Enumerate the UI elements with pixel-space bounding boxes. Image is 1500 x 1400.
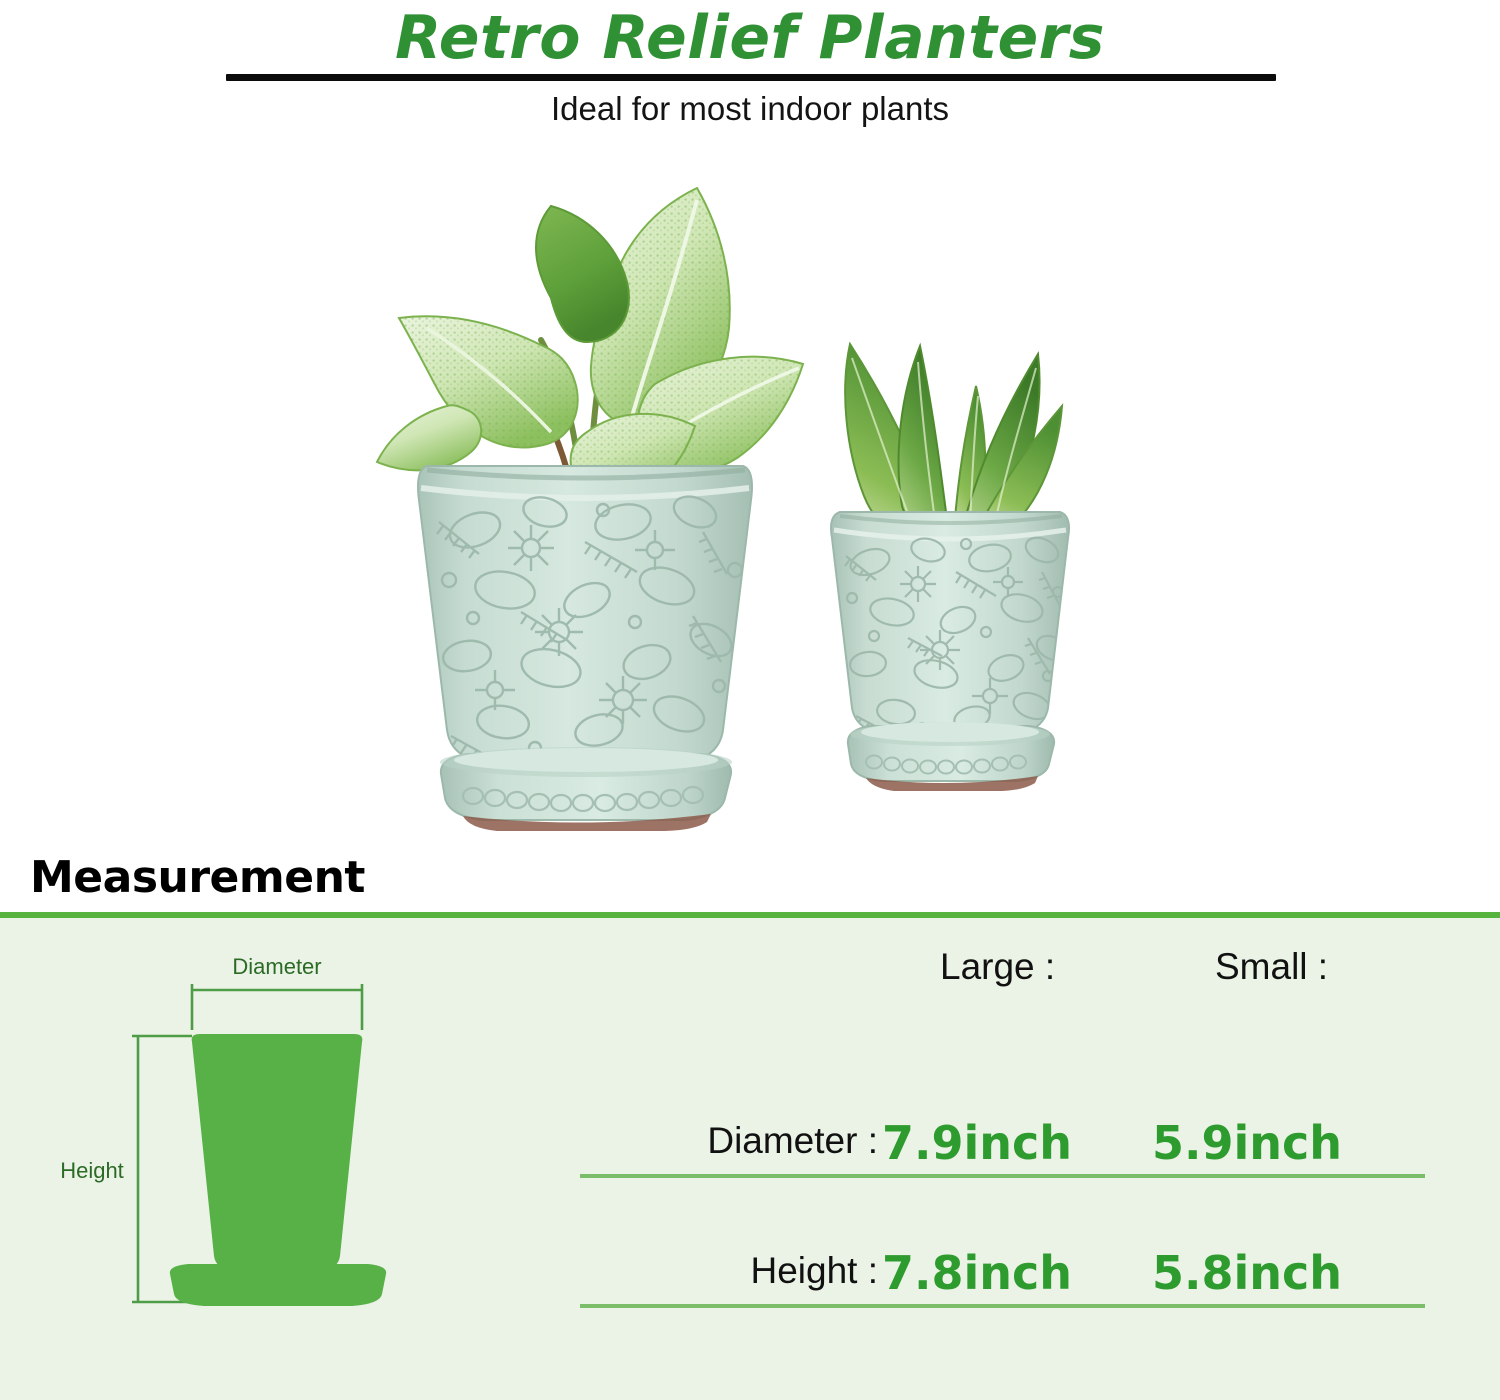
column-header-large: Large :: [940, 944, 1055, 990]
row-underline: [580, 1304, 1425, 1308]
column-header-small: Small :: [1215, 944, 1328, 990]
row-label-diameter: Diameter :: [707, 1118, 878, 1164]
row-underline: [580, 1174, 1425, 1178]
page-title: Retro Relief Planters: [0, 2, 1500, 74]
title-divider: [226, 74, 1276, 81]
row-value-small-diameter: 5.9inch: [1152, 1114, 1342, 1172]
small-planter-illustration: [790, 320, 1110, 820]
small-planter-group: [790, 320, 1110, 820]
large-planter-group: [355, 170, 815, 840]
height-label: Height: [60, 1158, 124, 1183]
table-row: Diameter : 7.9inch 5.9inch: [560, 1068, 1500, 1178]
diameter-label: Diameter: [232, 954, 321, 979]
large-pot-body: [418, 466, 752, 762]
page-subtitle: Ideal for most indoor plants: [0, 88, 1500, 130]
header: Retro Relief Planters Ideal for most ind…: [0, 0, 1500, 140]
diameter-dimension-line: [192, 984, 362, 1030]
row-label-height: Height :: [750, 1248, 878, 1294]
table-row: Height : 7.8inch 5.8inch: [560, 1198, 1500, 1308]
small-saucer: [848, 722, 1054, 791]
row-value-large-height: 7.8inch: [882, 1244, 1072, 1302]
product-photo: [0, 150, 1500, 840]
snake-plant-leaves: [845, 344, 1062, 534]
product-infographic: Retro Relief Planters Ideal for most ind…: [0, 0, 1500, 1400]
large-planter-illustration: [355, 170, 815, 840]
pot-silhouette: [170, 1034, 386, 1306]
dimension-diagram-svg: Diameter Height: [40, 938, 560, 1368]
large-saucer: [440, 747, 732, 831]
measurement-panel: Diameter Height Large : Small :: [0, 918, 1500, 1400]
dimension-diagram: Diameter Height: [40, 938, 560, 1368]
small-pot-body: [831, 512, 1071, 734]
measurement-heading: Measurement: [30, 852, 365, 904]
spec-table: Large : Small : Diameter : 7.9inch 5.9in…: [560, 918, 1500, 1400]
row-value-large-diameter: 7.9inch: [882, 1114, 1072, 1172]
arrowhead-plant-leaves: [377, 188, 803, 500]
row-value-small-height: 5.8inch: [1152, 1244, 1342, 1302]
